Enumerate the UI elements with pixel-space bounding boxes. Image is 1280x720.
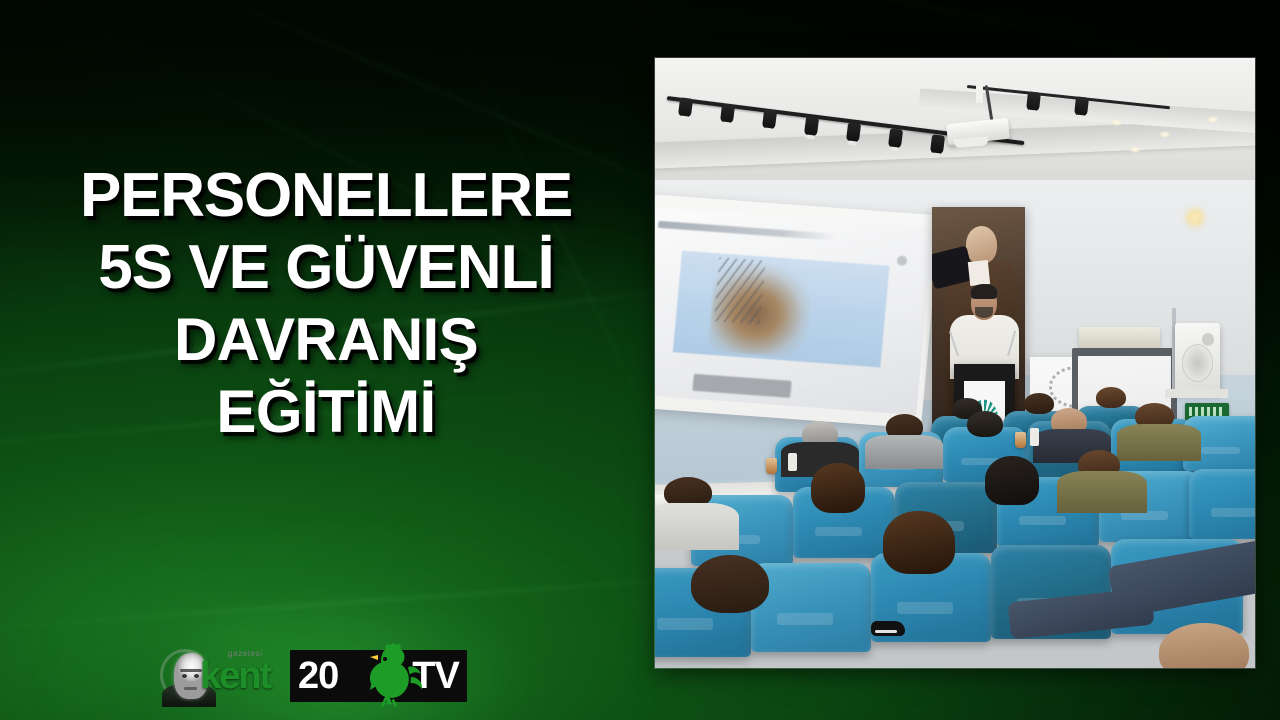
audience-torso	[1117, 424, 1201, 461]
headline-line-1: PERSONELLERE	[8, 160, 644, 232]
audience-head	[811, 463, 865, 513]
portrait-brow	[180, 669, 202, 672]
drink-cup	[1015, 432, 1026, 448]
news-photo	[655, 58, 1255, 668]
photo-scene	[655, 58, 1255, 668]
spotlight-icon	[804, 116, 819, 136]
seat	[751, 563, 871, 652]
projection-screen-surface	[655, 207, 933, 415]
headline-line-4: EĞİTİMİ	[8, 376, 644, 448]
presenter-hair	[971, 284, 997, 299]
ceiling-downlight-icon	[1111, 119, 1123, 126]
poster-figure-collar	[968, 260, 991, 286]
headline-line-2: 5S VE GÜVENLİ	[8, 232, 644, 304]
projector-mount	[976, 73, 983, 103]
audience-head	[883, 511, 955, 574]
news-cover-card: PERSONELLERE 5S VE GÜVENLİ DAVRANIŞ EĞİT…	[0, 0, 1280, 720]
speaker-shelf	[1165, 389, 1228, 398]
spotlight-icon	[1074, 96, 1089, 116]
channel-logo[interactable]: gazetesi kent 20 TV	[160, 645, 460, 707]
logo-brand-text: kent	[200, 657, 270, 695]
slide-illustration-detail	[714, 258, 766, 325]
logo-channel-number: 20	[298, 656, 338, 696]
audience-torso	[655, 503, 739, 550]
spotlight-icon	[888, 128, 903, 148]
napkin	[1030, 428, 1039, 446]
seat	[1189, 469, 1255, 540]
slide-badge-icon	[897, 256, 908, 267]
audience-head	[967, 411, 1003, 437]
audience-head	[985, 456, 1039, 506]
slide-caption-bar	[693, 374, 792, 398]
spotlight-icon	[930, 134, 945, 154]
headline-line-3: DAVRANIŞ	[8, 304, 644, 376]
audience-head	[1024, 393, 1054, 414]
speaker-tweeter	[1202, 333, 1214, 346]
audience-seating	[655, 406, 1255, 668]
projection-screen	[655, 194, 940, 429]
audience-torso	[1057, 471, 1147, 513]
drink-cup	[766, 458, 777, 474]
speaker-woofer	[1182, 344, 1213, 382]
rooster-icon	[358, 641, 422, 707]
spotlight-icon	[1026, 92, 1041, 112]
napkin	[788, 453, 797, 471]
slide-title-bar	[658, 221, 837, 241]
spotlight-icon	[846, 122, 861, 142]
portrait-eye	[182, 674, 187, 678]
audience-shoe	[871, 621, 905, 636]
ceiling-downlight-icon	[1207, 116, 1219, 123]
wall-speaker-icon	[1175, 323, 1221, 393]
audience-head	[1096, 387, 1126, 408]
audience-torso	[865, 435, 943, 469]
poster-figure-head	[966, 226, 998, 264]
audience-head	[691, 555, 769, 613]
headline-block: PERSONELLERE 5S VE GÜVENLİ DAVRANIŞ EĞİT…	[0, 160, 652, 448]
portrait-eye	[194, 674, 199, 678]
portrait-mouth	[184, 687, 197, 690]
